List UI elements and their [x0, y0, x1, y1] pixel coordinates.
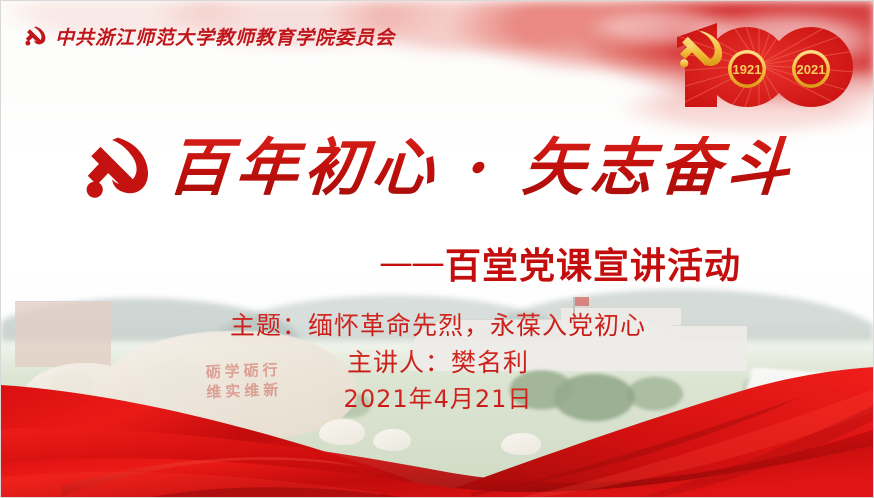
- organization-header: 中共浙江师范大学教师教育学院委员会: [23, 23, 395, 50]
- cpc-100-anniversary-logo: 1921 2021: [659, 15, 859, 115]
- logo-year-start: 1921: [733, 62, 762, 77]
- main-title: 百年初心 · 矢志奋斗: [165, 135, 796, 200]
- flag-icon: [575, 297, 589, 306]
- subtitle-row: —— 百堂党课宣讲活动: [379, 237, 741, 289]
- main-title-row: 百年初心 · 矢志奋斗: [1, 129, 874, 207]
- party-emblem-icon: [82, 133, 156, 207]
- organization-name: 中共浙江师范大学教师教育学院委员会: [55, 23, 395, 50]
- presentation-slide: 砺学砺行 维实维新 中共浙江师范大学教师教育学院委员会: [0, 0, 874, 498]
- info-topic: 主题：缅怀革命先烈，永葆入党初心: [1, 307, 874, 344]
- party-emblem-icon: [23, 24, 49, 50]
- subtitle-dash: ——: [379, 243, 443, 283]
- red-silk-drapery: [1, 367, 874, 497]
- logo-year-end: 2021: [797, 62, 826, 77]
- subtitle-text: 百堂党课宣讲活动: [445, 237, 741, 289]
